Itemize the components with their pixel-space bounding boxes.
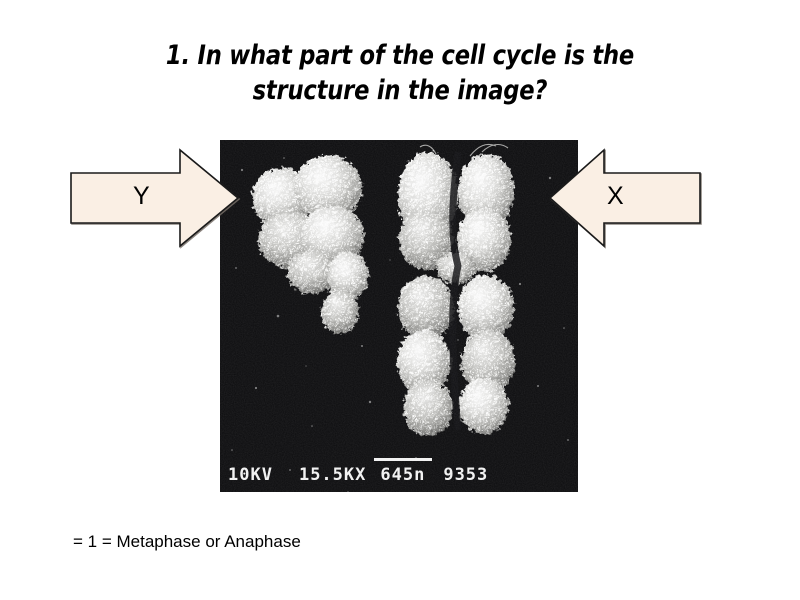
micrograph-grain bbox=[220, 140, 578, 492]
answer-text: = 1 = Metaphase or Anaphase bbox=[73, 532, 301, 552]
title-line-1: 1. In what part of the cell cycle is the bbox=[84, 38, 716, 73]
micrograph-content bbox=[220, 140, 578, 492]
right-arrow-callout[interactable] bbox=[548, 148, 702, 248]
chromosome-micrograph-image: 10KV 15.5KX 645n 9353 bbox=[220, 140, 578, 492]
sem-scale-label: 645n bbox=[380, 465, 425, 485]
slide-canvas: 1. In what part of the cell cycle is the… bbox=[0, 0, 800, 600]
left-arrow-callout[interactable] bbox=[70, 148, 240, 248]
title-line-2: structure in the image? bbox=[84, 73, 716, 108]
arrow-right-icon bbox=[70, 148, 240, 248]
left-arrow-label: Y bbox=[133, 184, 150, 209]
sem-scale-value: 645n bbox=[380, 465, 425, 485]
sem-voltage-label: 10KV bbox=[228, 465, 273, 485]
page-title: 1. In what part of the cell cycle is the… bbox=[84, 38, 716, 108]
right-arrow-label: X bbox=[607, 184, 624, 209]
sem-frame-id-label: 9353 bbox=[443, 465, 488, 485]
sem-scale-bar bbox=[374, 458, 432, 461]
sem-caption-bar: 10KV 15.5KX 645n 9353 bbox=[220, 462, 578, 488]
arrow-left-icon bbox=[548, 148, 702, 248]
sem-magnification-label: 15.5KX bbox=[299, 465, 366, 485]
